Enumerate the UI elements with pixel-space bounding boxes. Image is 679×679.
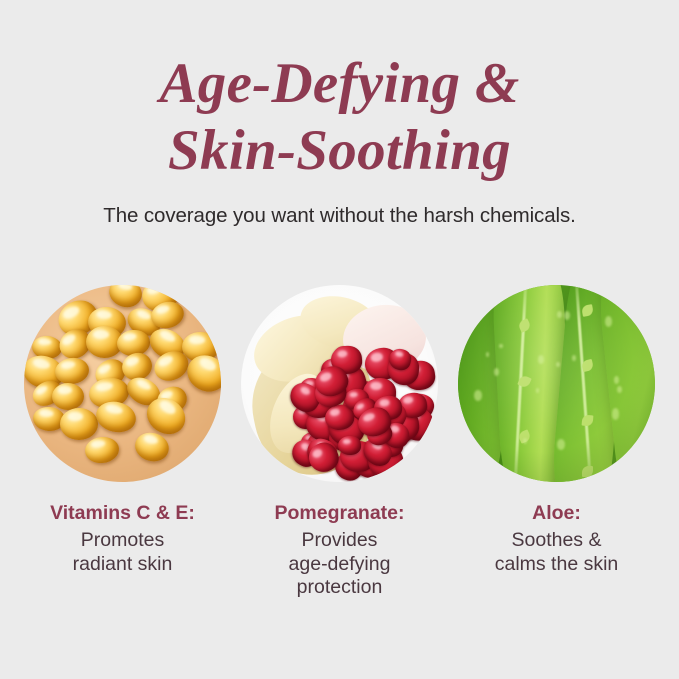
aloe-leaves-photo: [458, 285, 655, 482]
headline-line-1: Age-Defying &: [0, 50, 679, 117]
ingredient-title: Aloe:: [495, 502, 619, 526]
ingredient-line: Soothes &: [495, 529, 619, 553]
ingredient-title: Vitamins C & E:: [50, 502, 195, 526]
ingredient-title: Pomegranate:: [274, 502, 404, 526]
ingredient-column-pomegranate: Pomegranate: Provides age-defying protec…: [241, 285, 438, 600]
page-headline: Age-Defying & Skin-Soothing: [0, 50, 679, 185]
page-subtitle: The coverage you want without the harsh …: [0, 204, 679, 228]
ingredient-column-aloe: Aloe: Soothes & calms the skin: [458, 285, 655, 600]
ingredient-line: age-defying: [274, 553, 404, 577]
ingredient-line: radiant skin: [50, 553, 195, 577]
ingredient-caption-vitamins: Vitamins C & E: Promotes radiant skin: [50, 502, 195, 576]
ingredient-column-vitamins: Vitamins C & E: Promotes radiant skin: [24, 285, 221, 600]
vitamin-softgel-capsules-photo: [24, 285, 221, 482]
ingredient-caption-aloe: Aloe: Soothes & calms the skin: [495, 502, 619, 576]
aloe-vignette: [458, 285, 655, 482]
ingredient-benefits-poster: Age-Defying & Skin-Soothing The coverage…: [0, 0, 679, 679]
ingredient-line: calms the skin: [495, 553, 619, 577]
pomegranate-aril: [337, 436, 361, 456]
ingredient-line: Provides: [274, 529, 404, 553]
softgel-capsule: [60, 408, 98, 440]
ingredient-line: Promotes: [50, 529, 195, 553]
ingredient-columns: Vitamins C & E: Promotes radiant skin Po…: [0, 285, 679, 600]
ingredient-caption-pomegranate: Pomegranate: Provides age-defying protec…: [274, 502, 404, 600]
headline-line-2: Skin-Soothing: [0, 117, 679, 184]
pomegranate-photo: [241, 285, 438, 482]
ingredient-line: protection: [274, 576, 404, 600]
